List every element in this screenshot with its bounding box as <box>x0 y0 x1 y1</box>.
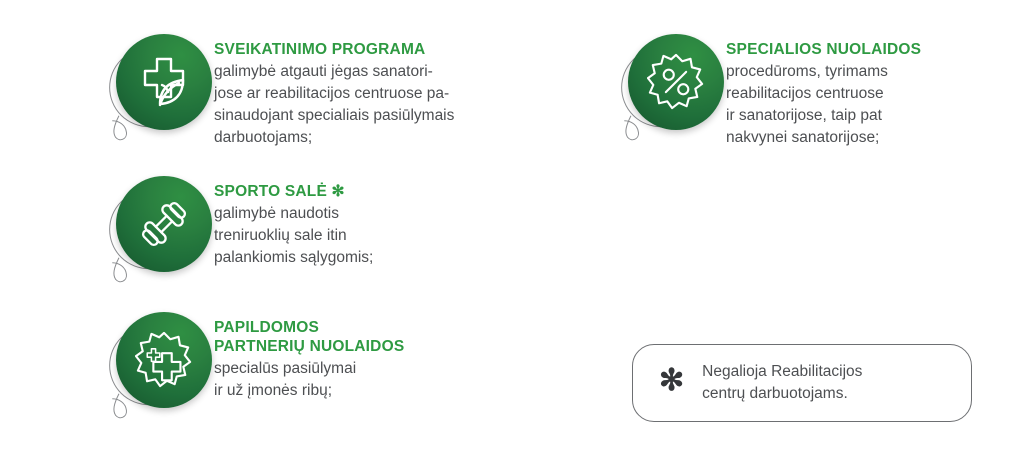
benefit-item-sveikatinimo-programa: SVEIKATINIMO PROGRAMA galimybė atgauti j… <box>104 34 454 152</box>
footnote-box: ✻ Negalioja Reabilitacijos centrų darbuo… <box>632 344 972 422</box>
benefit-body: procedūroms, tyrimams reabilitacijos cen… <box>726 61 921 149</box>
starburst-double-cross-icon <box>116 312 212 408</box>
badge-sveikatinimo-programa <box>104 34 214 152</box>
footnote-text: Negalioja Reabilitacijos centrų darbuoto… <box>702 361 862 405</box>
benefit-body: specialūs pasiūlymai ir už įmonės ribų; <box>214 358 404 402</box>
badge-papildomos-partneriu-nuolaidos <box>104 312 214 430</box>
asterisk-icon: ✻ <box>659 366 684 396</box>
benefit-text-block: PAPILDOMOS PARTNERIŲ NUOLAIDOS specialūs… <box>214 312 404 402</box>
benefit-title: SPORTO SALĖ ✻ <box>214 182 373 201</box>
starburst-percent-icon <box>628 34 724 130</box>
benefit-text-block: SVEIKATINIMO PROGRAMA galimybė atgauti j… <box>214 34 454 149</box>
benefit-text-block: SPECIALIOS NUOLAIDOS procedūroms, tyrima… <box>726 34 921 149</box>
benefit-item-specialios-nuolaidos: SPECIALIOS NUOLAIDOS procedūroms, tyrima… <box>616 34 921 152</box>
benefit-body: galimybė atgauti jėgas sanatori- jose ar… <box>214 61 454 149</box>
benefit-body: galimybė naudotis treniruoklių sale itin… <box>214 203 373 269</box>
benefit-text-block: SPORTO SALĖ ✻ galimybė naudotis treniruo… <box>214 176 373 269</box>
benefit-title: PAPILDOMOS PARTNERIŲ NUOLAIDOS <box>214 318 404 356</box>
medical-cross-leaf-icon <box>116 34 212 130</box>
dumbbell-icon <box>116 176 212 272</box>
badge-specialios-nuolaidos <box>616 34 726 152</box>
badge-sporto-sale <box>104 176 214 294</box>
benefit-item-papildomos-partneriu-nuolaidos: PAPILDOMOS PARTNERIŲ NUOLAIDOS specialūs… <box>104 312 404 430</box>
benefit-item-sporto-sale: SPORTO SALĖ ✻ galimybė naudotis treniruo… <box>104 176 373 294</box>
benefit-title: SVEIKATINIMO PROGRAMA <box>214 40 454 59</box>
benefit-title: SPECIALIOS NUOLAIDOS <box>726 40 921 59</box>
